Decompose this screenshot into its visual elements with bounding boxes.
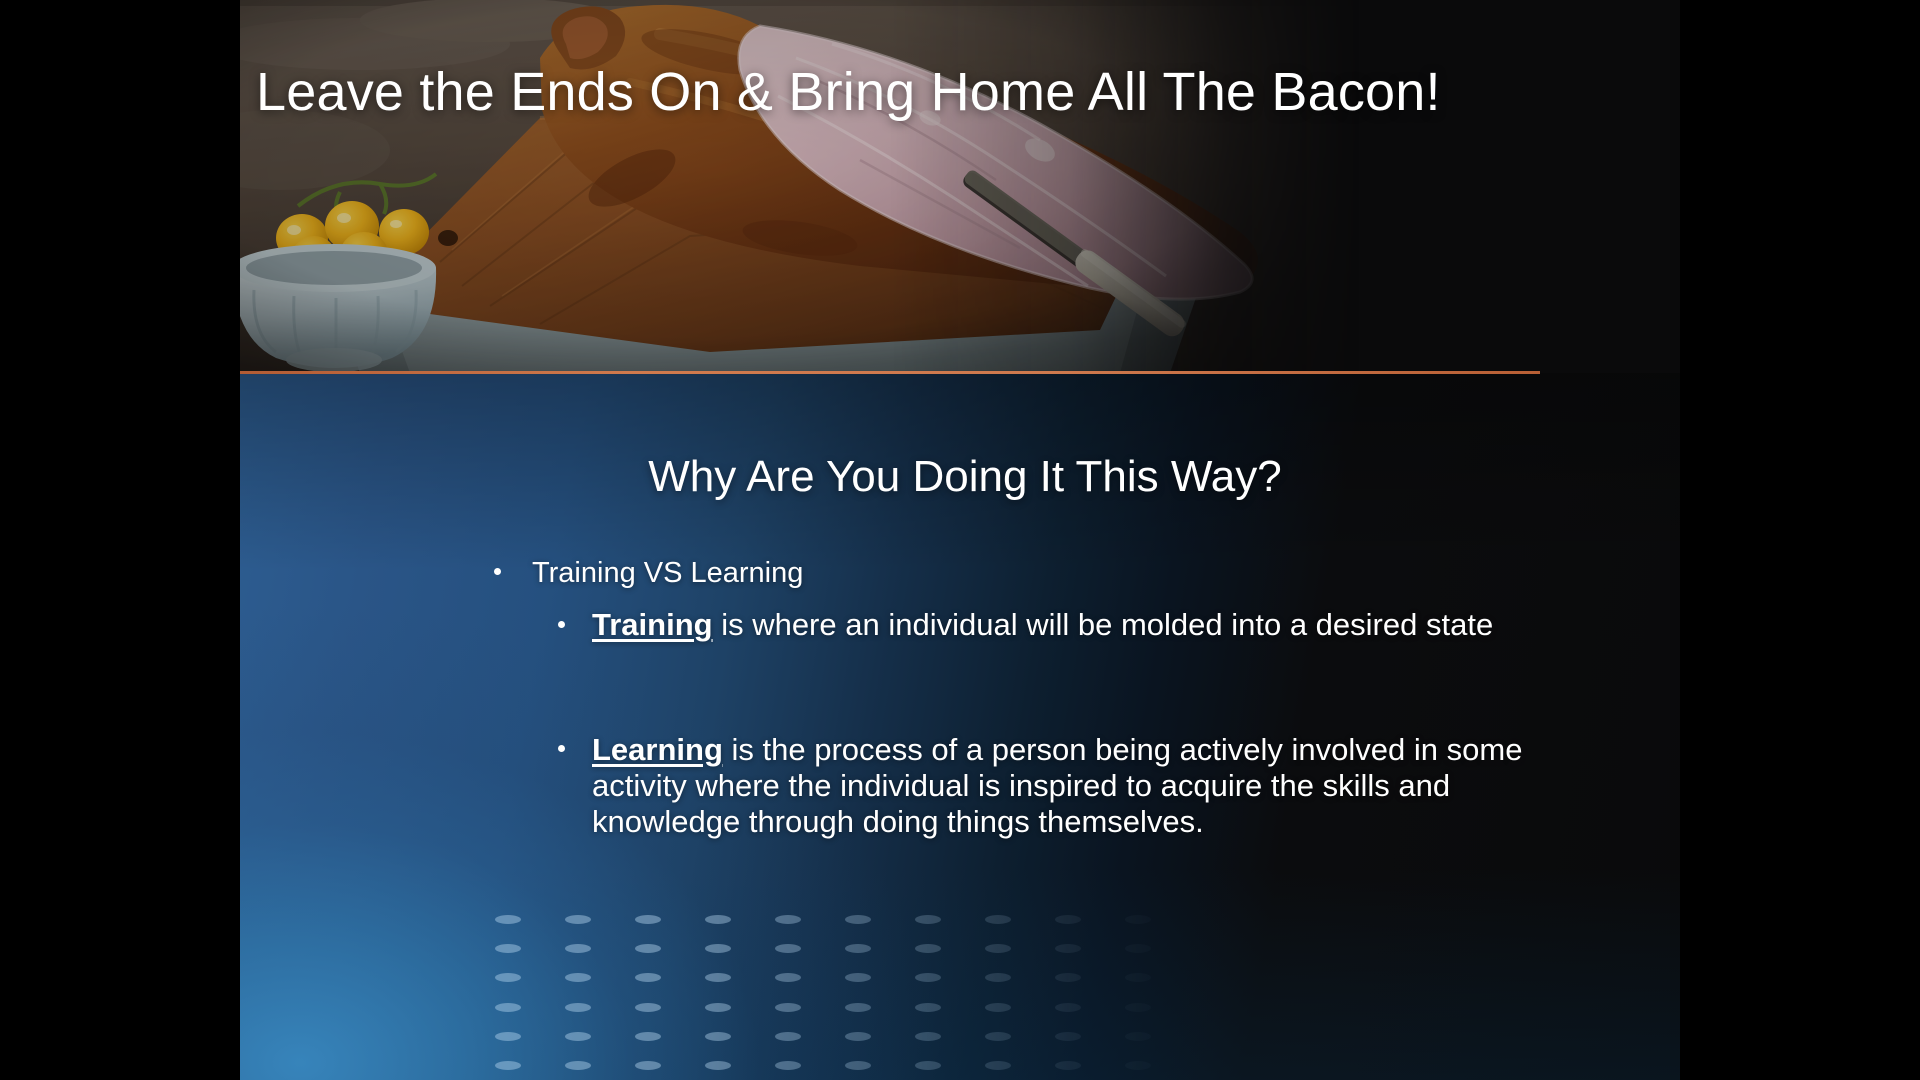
header-photo-area [240, 0, 1680, 373]
bullet-level2-learning: Learning is the process of a person bein… [556, 732, 1550, 841]
bullet-dot-icon [494, 568, 501, 575]
bullet-spacer [556, 644, 1550, 732]
bullet-level2-training: Training is where an individual will be … [556, 607, 1550, 643]
letterbox-right [1680, 0, 1920, 1080]
bullet-dot-icon [558, 745, 565, 752]
photo-illustration [240, 0, 1360, 373]
letterbox-left [0, 0, 240, 1080]
bullet-body-learning: is the process of a person being activel… [592, 732, 1522, 840]
bullet-level2-group: Training is where an individual will be … [556, 607, 1550, 840]
body-heading: Why Are You Doing It This Way? [390, 452, 1540, 503]
bullet-list: Training VS Learning Training is where a… [490, 555, 1550, 840]
slide-stage: Leave the Ends On & Bring Home All The B… [0, 0, 1920, 1080]
bullet-dot-icon [558, 621, 565, 628]
ham-on-cutting-board-photo [240, 0, 1360, 373]
slide-title: Leave the Ends On & Bring Home All The B… [256, 62, 1676, 122]
bullet-level1: Training VS Learning [490, 555, 1550, 591]
bullet-lead-learning: Learning [592, 732, 723, 767]
slide-canvas: Leave the Ends On & Bring Home All The B… [240, 0, 1680, 1080]
bullet-lead-training: Training [592, 607, 713, 642]
bullet-body-training: is where an individual will be molded in… [713, 607, 1494, 642]
bullet-level1-text: Training VS Learning [532, 557, 803, 589]
accent-divider-line [240, 371, 1540, 374]
